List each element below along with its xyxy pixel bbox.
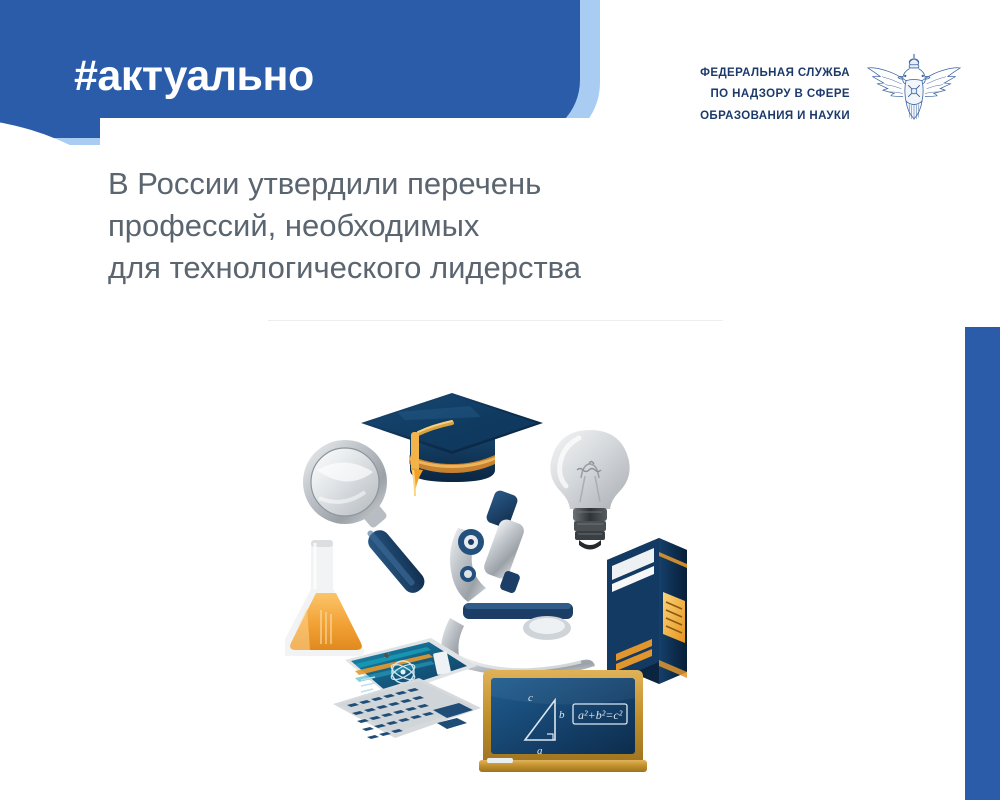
chalkboard-formula: a²+b²=c² <box>578 708 623 722</box>
erlenmeyer-flask-icon <box>285 540 364 656</box>
page-title-line-1: В России утвердили перечень <box>108 163 868 205</box>
agency-logo-line-2: ПО НАДЗОРУ В СФЕРЕ <box>700 84 850 105</box>
agency-logo-line-3: ОБРАЗОВАНИЯ И НАУКИ <box>700 106 850 127</box>
chalkboard-label-b: b <box>559 709 565 721</box>
double-headed-eagle-icon <box>866 52 962 138</box>
chalkboard-label-c: c <box>528 692 533 704</box>
right-accent-bar <box>965 327 1000 800</box>
agency-logo-text: ФЕДЕРАЛЬНАЯ СЛУЖБА ПО НАДЗОРУ В СФЕРЕ ОБ… <box>700 63 850 127</box>
divider-line <box>268 320 723 321</box>
poster-canvas: #актуально ФЕДЕРАЛЬНАЯ СЛУЖБА ПО НАДЗОРУ… <box>0 0 1000 800</box>
graduation-cap-icon <box>361 393 543 496</box>
light-bulb-icon <box>550 430 629 550</box>
page-title: В России утвердили перечень профессий, н… <box>108 163 868 289</box>
illustration-group: c b a a²+b²=c² <box>285 360 715 780</box>
chalkboard-label-a: a <box>537 745 543 757</box>
hashtag-label: #актуально <box>74 52 314 101</box>
page-title-line-2: профессий, необходимых <box>108 205 868 247</box>
book-icon <box>607 538 687 684</box>
agency-logo: ФЕДЕРАЛЬНАЯ СЛУЖБА ПО НАДЗОРУ В СФЕРЕ ОБ… <box>700 52 962 138</box>
page-title-line-3: для технологического лидерства <box>108 247 868 289</box>
agency-logo-line-1: ФЕДЕРАЛЬНАЯ СЛУЖБА <box>700 63 850 84</box>
chalkboard-icon: c b a a²+b²=c² <box>479 670 647 772</box>
microscope-icon <box>441 489 595 677</box>
